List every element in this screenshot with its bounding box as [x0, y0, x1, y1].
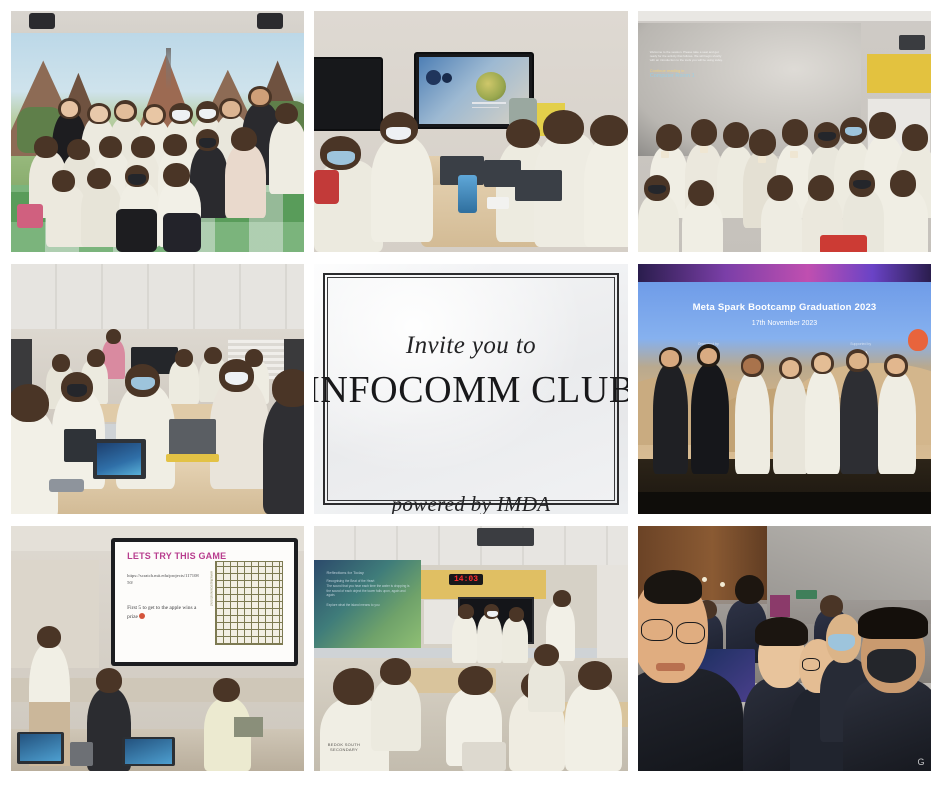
tile-lets-try-this-game: LETS TRY THIS GAME https://scratch.mit.e…: [11, 526, 304, 771]
slide-content: LETS TRY THIS GAME https://scratch.mit.e…: [115, 542, 295, 661]
projector-icon: [29, 13, 55, 29]
tile-students-with-screen: Welcome to the session. Please take a se…: [638, 11, 931, 252]
slide-body-text: Welcome to the session. Please take a se…: [650, 50, 726, 82]
slide-note-text: First 5 to get to the apple wins a prize: [127, 605, 196, 619]
shirt-text: BEDOK SOUTH SECONDARY: [314, 742, 374, 752]
photo-watermark: G: [917, 757, 925, 767]
wall-clock: 14:03: [449, 574, 483, 585]
wall-tv: LETS TRY THIS GAME https://scratch.mit.e…: [111, 538, 299, 665]
banner-title: Meta Spark Bootcamp Graduation 2023: [638, 302, 931, 313]
ceiling-projector-icon: [477, 528, 534, 545]
tile-computer-lab: Crowded classroom of students using lapt…: [11, 264, 304, 514]
projector-icon: [257, 13, 283, 29]
projected-slide-text: Reflections for Today Recognising the Be…: [327, 570, 415, 608]
banner-date: 17th November 2023: [638, 320, 931, 327]
tile-minecraft-group-photo: Group photo of students in front of a Mi…: [11, 11, 304, 252]
slide-highlight: Computer Room 1: [650, 73, 726, 81]
shirt-text-line2: SECONDARY: [330, 747, 358, 752]
photo-collage: Group photo of students in front of a Mi…: [0, 0, 940, 788]
powered-by-line: powered by IMDA: [392, 492, 551, 514]
invite-line: Invite you to: [406, 332, 536, 360]
slide-title: LETS TRY THIS GAME: [127, 551, 226, 561]
slide-note: First 5 to get to the apple wins a prize: [127, 604, 199, 621]
tile-event-selfie: G Selfie of a teacher with students in n…: [638, 526, 931, 771]
stage-light-strip: [638, 264, 931, 282]
tile-table-discussion: Students working with laptops and tablet…: [314, 11, 628, 252]
tile-meta-spark-graduation: Meta Spark Bootcamp Graduation 2023 17th…: [638, 264, 931, 514]
slide-url: https://scratch.mit.edu/projects/1171085…: [127, 573, 199, 587]
tile-classroom-presentation: Reflections for Today Recognising the Be…: [314, 526, 628, 771]
apple-icon: [139, 613, 145, 619]
mascot-icon: [908, 329, 928, 351]
infocomm-club-invite-poster: Invite you to INFOCOMM CLUB powered by I…: [314, 264, 628, 514]
maze-watermark: www.MazeGenerator.net: [209, 571, 213, 606]
supported-by-label: Supported by: [828, 342, 892, 346]
club-title: INFOCOMM CLUB: [314, 368, 628, 412]
maze-image: [215, 561, 283, 645]
